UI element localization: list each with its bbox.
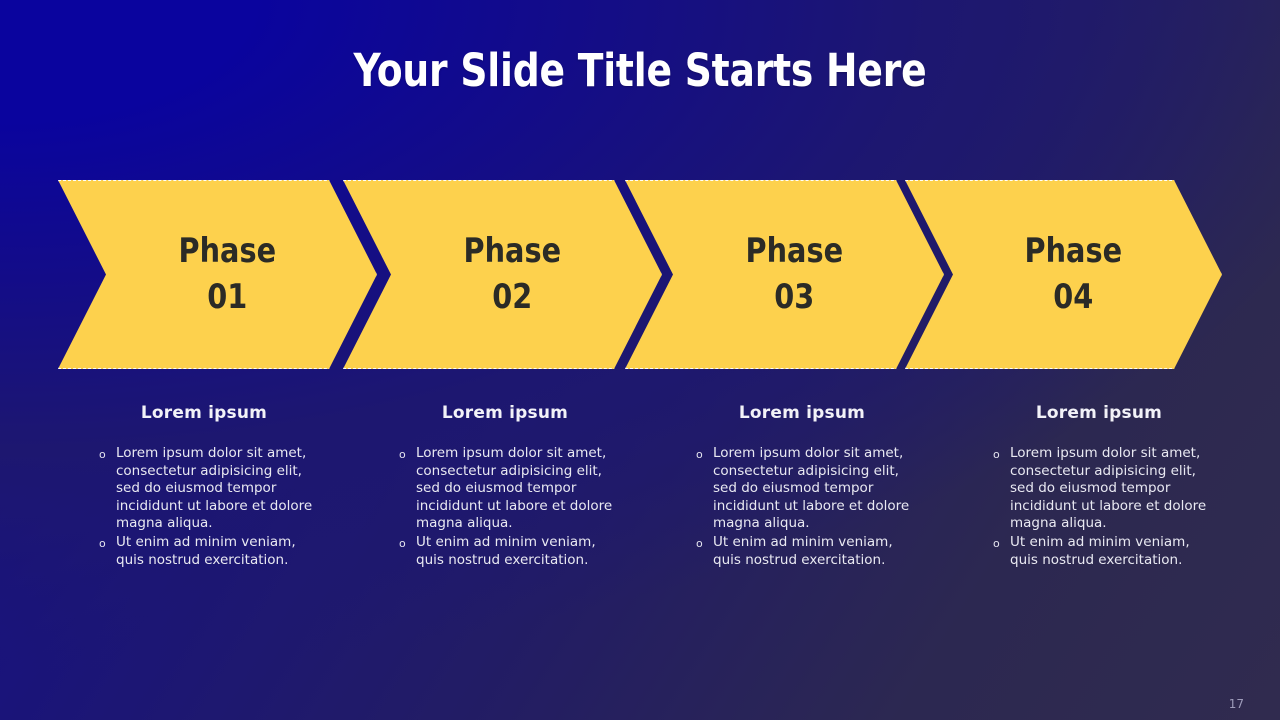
phase-chevron-2-label-line1: Phase [463, 229, 561, 274]
phase-chevron-4[interactable]: Phase 04 [905, 180, 1222, 369]
list-item-text: Lorem ipsum dolor sit amet, consectetur … [1010, 445, 1206, 531]
phase-chevron-2-label-line2: 02 [463, 275, 561, 320]
phase-column-2-bullet-list: o Lorem ipsum dolor sit amet, consectetu… [396, 445, 618, 569]
slide-canvas: Your Slide Title Starts Here Phase 01 Ph… [0, 0, 1280, 720]
page-number: 17 [1229, 697, 1244, 711]
phase-column-3: Lorem ipsum o Lorem ipsum dolor sit amet… [693, 403, 915, 570]
phase-chevron-1-label-line2: 01 [178, 275, 276, 320]
phase-column-4: Lorem ipsum o Lorem ipsum dolor sit amet… [990, 403, 1212, 570]
list-item-text: Ut enim ad minim veniam, quis nostrud ex… [416, 534, 596, 568]
phase-column-1: Lorem ipsum o Lorem ipsum dolor sit amet… [96, 403, 318, 570]
bullet-circle-icon: o [399, 446, 406, 464]
bullet-circle-icon: o [696, 446, 703, 464]
list-item: o Ut enim ad minim veniam, quis nostrud … [990, 534, 1212, 569]
phase-chevron-3-label-line2: 03 [745, 275, 843, 320]
phase-chevron-4-label-line1: Phase [1024, 229, 1122, 274]
phase-column-4-bullet-list: o Lorem ipsum dolor sit amet, consectetu… [990, 445, 1212, 569]
list-item-text: Ut enim ad minim veniam, quis nostrud ex… [116, 534, 296, 568]
phase-column-3-heading: Lorem ipsum [693, 403, 915, 423]
phase-column-1-heading: Lorem ipsum [96, 403, 318, 423]
phase-column-2-heading: Lorem ipsum [396, 403, 618, 423]
phase-column-2: Lorem ipsum o Lorem ipsum dolor sit amet… [396, 403, 618, 570]
list-item: o Lorem ipsum dolor sit amet, consectetu… [96, 445, 318, 533]
phase-column-4-heading: Lorem ipsum [990, 403, 1212, 423]
phase-chevron-4-label: Phase 04 [1024, 229, 1122, 319]
phase-chevron-1[interactable]: Phase 01 [58, 180, 377, 369]
list-item: o Lorem ipsum dolor sit amet, consectetu… [693, 445, 915, 533]
bullet-circle-icon: o [399, 535, 406, 553]
list-item: o Ut enim ad minim veniam, quis nostrud … [396, 534, 618, 569]
list-item-text: Ut enim ad minim veniam, quis nostrud ex… [1010, 534, 1190, 568]
page-title: Your Slide Title Starts Here [45, 44, 1235, 97]
list-item-text: Lorem ipsum dolor sit amet, consectetur … [116, 445, 312, 531]
bullet-circle-icon: o [993, 535, 1000, 553]
phase-chevron-3-label-line1: Phase [745, 229, 843, 274]
list-item: o Lorem ipsum dolor sit amet, consectetu… [990, 445, 1212, 533]
phase-column-3-bullet-list: o Lorem ipsum dolor sit amet, consectetu… [693, 445, 915, 569]
phase-chevron-1-label-line1: Phase [178, 229, 276, 274]
list-item: o Ut enim ad minim veniam, quis nostrud … [96, 534, 318, 569]
phase-chevron-row: Phase 01 Phase 02 Phase 03 Phase 04 [0, 180, 1280, 369]
phase-chevron-4-label-line2: 04 [1024, 275, 1122, 320]
list-item-text: Lorem ipsum dolor sit amet, consectetur … [416, 445, 612, 531]
phase-chevron-3[interactable]: Phase 03 [625, 180, 944, 369]
phase-chevron-2-label: Phase 02 [463, 229, 561, 319]
phase-chevron-1-label: Phase 01 [178, 229, 276, 319]
phase-chevron-2[interactable]: Phase 02 [343, 180, 662, 369]
bullet-circle-icon: o [99, 446, 106, 464]
list-item: o Lorem ipsum dolor sit amet, consectetu… [396, 445, 618, 533]
list-item-text: Ut enim ad minim veniam, quis nostrud ex… [713, 534, 893, 568]
list-item-text: Lorem ipsum dolor sit amet, consectetur … [713, 445, 909, 531]
bullet-circle-icon: o [696, 535, 703, 553]
bullet-circle-icon: o [99, 535, 106, 553]
phase-column-1-bullet-list: o Lorem ipsum dolor sit amet, consectetu… [96, 445, 318, 569]
bullet-circle-icon: o [993, 446, 1000, 464]
phase-chevron-3-label: Phase 03 [745, 229, 843, 319]
list-item: o Ut enim ad minim veniam, quis nostrud … [693, 534, 915, 569]
